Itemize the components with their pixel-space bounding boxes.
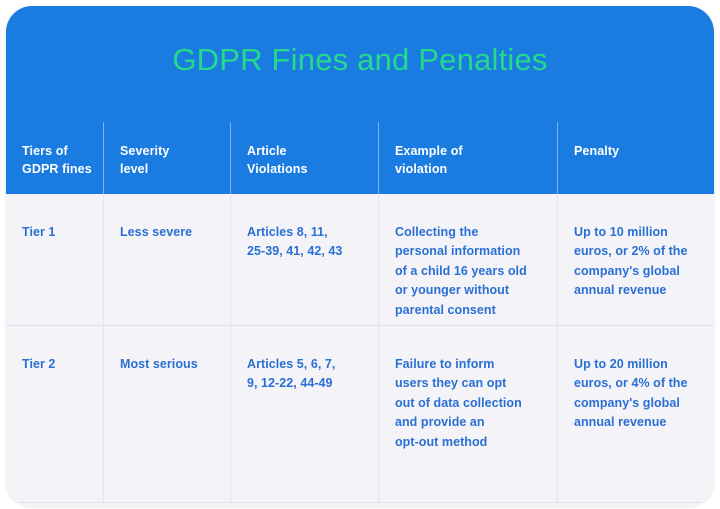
table-cell-articles: Articles 8, 11, 25-39, 41, 42, 43 (230, 194, 378, 325)
table-row: Tier 2 Most serious Articles 5, 6, 7, 9,… (6, 325, 714, 506)
screenshot-canvas: GDPR Fines and Penalties Tiers of GDPR f… (0, 0, 720, 509)
table-header-row: Tiers of GDPR fines Severity level Artic… (6, 122, 714, 194)
table-cell-severity: Less severe (103, 194, 230, 325)
cell-text: Articles 5, 6, 7, 9, 12-22, 44-49 (247, 357, 335, 390)
page-title: GDPR Fines and Penalties (172, 43, 547, 77)
table-header-cell-tiers: Tiers of GDPR fines (6, 122, 103, 194)
cell-text: Up to 20 million euros, or 4% of the com… (574, 357, 687, 429)
cell-text: Articles 8, 11, 25-39, 41, 42, 43 (247, 225, 342, 258)
cell-text: Up to 10 million euros, or 2% of the com… (574, 225, 687, 297)
table-header-cell-articles: Article Violations (230, 122, 378, 194)
column-header-label: Tiers of GDPR fines (22, 144, 92, 176)
table-cell-penalty: Up to 10 million euros, or 2% of the com… (557, 194, 714, 325)
table-row: Tier 1 Less severe Articles 8, 11, 25-39… (6, 194, 714, 325)
table-cell-example: Failure to inform users they can opt out… (378, 326, 557, 506)
column-header-label: Article Violations (247, 144, 308, 176)
title-banner: GDPR Fines and Penalties (6, 6, 714, 122)
column-header-label: Penalty (574, 144, 619, 158)
table-cell-penalty: Up to 20 million euros, or 4% of the com… (557, 326, 714, 506)
gdpr-fines-infographic-card: GDPR Fines and Penalties Tiers of GDPR f… (6, 6, 714, 506)
cell-text: Tier 2 (22, 357, 55, 371)
table-bottom-divider (6, 502, 714, 503)
cell-text: Most serious (120, 357, 198, 371)
table-cell-severity: Most serious (103, 326, 230, 506)
table-header-cell-example: Example of violation (378, 122, 557, 194)
cell-text: Tier 1 (22, 225, 55, 239)
table-cell-example: Collecting the personal information of a… (378, 194, 557, 325)
gdpr-fines-table: Tiers of GDPR fines Severity level Artic… (6, 122, 714, 506)
column-header-label: Example of violation (395, 144, 463, 176)
table-cell-tier: Tier 1 (6, 194, 103, 325)
table-header-cell-penalty: Penalty (557, 122, 714, 194)
cell-text: Less severe (120, 225, 192, 239)
column-header-label: Severity level (120, 144, 169, 176)
cell-text: Failure to inform users they can opt out… (395, 357, 522, 449)
table-cell-tier: Tier 2 (6, 326, 103, 506)
table-header-cell-severity: Severity level (103, 122, 230, 194)
cell-text: Collecting the personal information of a… (395, 225, 527, 317)
table-cell-articles: Articles 5, 6, 7, 9, 12-22, 44-49 (230, 326, 378, 506)
